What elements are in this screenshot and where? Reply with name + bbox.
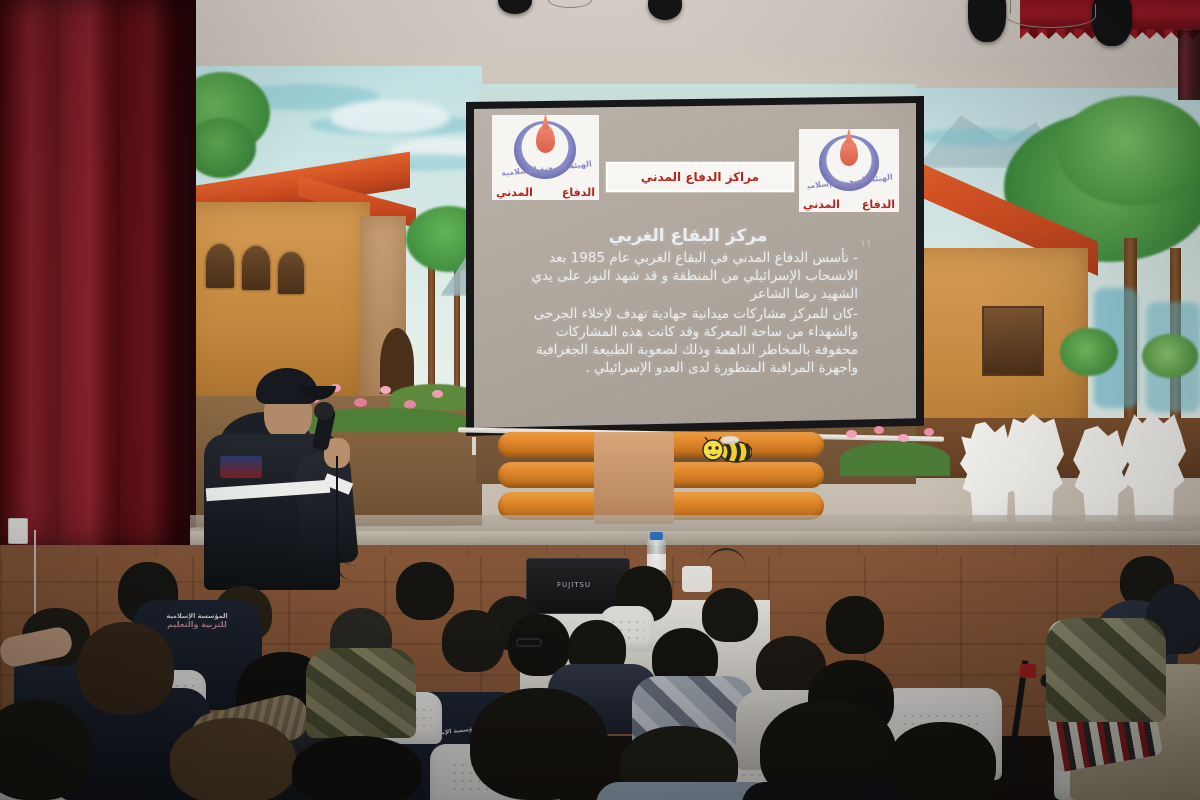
microphone-cable-run (336, 470, 352, 580)
laptop-brand-label: FUJITSU (557, 581, 591, 589)
audience-head (888, 722, 996, 800)
tripod-head (1020, 664, 1036, 678)
slide-heading: مركز البقاع الغربي (518, 225, 858, 248)
audience-head (170, 718, 296, 800)
foam-tree-cutout (1120, 412, 1186, 526)
wall-socket[interactable] (8, 518, 28, 544)
foam-tree-cutout (1002, 414, 1064, 526)
slide-paragraph-1: - تأسس الدفاع المدني في البقاع الغربي عا… (518, 249, 858, 303)
log-stack-prop (498, 432, 828, 528)
audience-head (292, 736, 422, 800)
glasses-icon (516, 638, 542, 647)
light-cable-arc (1006, 4, 1096, 28)
audience-torso (306, 648, 416, 738)
audience-head (470, 688, 608, 800)
auditorium-scene: الهيئة الصحية الإسلامية الدفاع المدني ال… (0, 0, 1200, 800)
logo-label-top: الدفاع (862, 198, 895, 211)
audience-head (826, 596, 884, 654)
flame-drop-icon (840, 139, 858, 166)
light-cable (1010, 0, 1011, 14)
shoulder-badge (220, 456, 262, 478)
logo-label-bottom: المدني (496, 186, 533, 199)
foam-cutout-group (960, 408, 1200, 526)
log-cut-face (594, 432, 674, 524)
stage-curtain-right-edge (1178, 30, 1200, 100)
audience-head (702, 588, 758, 642)
audience-head (396, 562, 454, 620)
civil-defense-logo-left: الهيئة الصحية الإسلامية الدفاع المدني (492, 115, 599, 200)
projection-screen-stand (472, 437, 476, 455)
bee-icon (700, 436, 752, 466)
slide-title-box: مراكز الدفاع المدني (605, 161, 795, 193)
jacket-text-line1: المؤسسة الإسلامية (166, 612, 227, 620)
audience-head (0, 700, 92, 800)
slide-body: مركز البقاع الغربي - تأسس الدفاع المدني … (518, 225, 858, 377)
slide-paragraph-2: -كان للمركز مشاركات ميدانية جهادية تهدف … (518, 305, 858, 377)
jacket-text-line2: للتربية والتعليم (167, 620, 227, 629)
audience-torso-camo (1046, 618, 1166, 722)
stage-curtain (0, 0, 196, 546)
slide-page-marker: ١١ (860, 236, 872, 249)
projection-screen[interactable]: الهيئة الصحية الإسلامية الدفاع المدني ال… (474, 103, 916, 428)
microphone-head (314, 402, 334, 420)
civil-defense-logo-right: الهيئة الصحية الإسلامية الدفاع المدني (799, 129, 899, 212)
foam-tree-cutout (1072, 426, 1130, 526)
school-jacket-text: المؤسسة الإسلامية للتربية والتعليم (146, 612, 248, 630)
flame-drop-icon (536, 125, 555, 153)
slide-title: مراكز الدفاع المدني (641, 170, 759, 184)
mural-flowers-right (840, 424, 950, 480)
logo-label-top: الدفاع (562, 186, 595, 199)
bottle-cap (650, 532, 663, 540)
stage-light-icon (968, 0, 1006, 42)
stage-light-icon (1092, 0, 1132, 46)
audience-head (78, 622, 174, 714)
logo-label-bottom: المدني (803, 198, 840, 211)
presenter (198, 360, 388, 590)
audience-head (442, 610, 504, 672)
